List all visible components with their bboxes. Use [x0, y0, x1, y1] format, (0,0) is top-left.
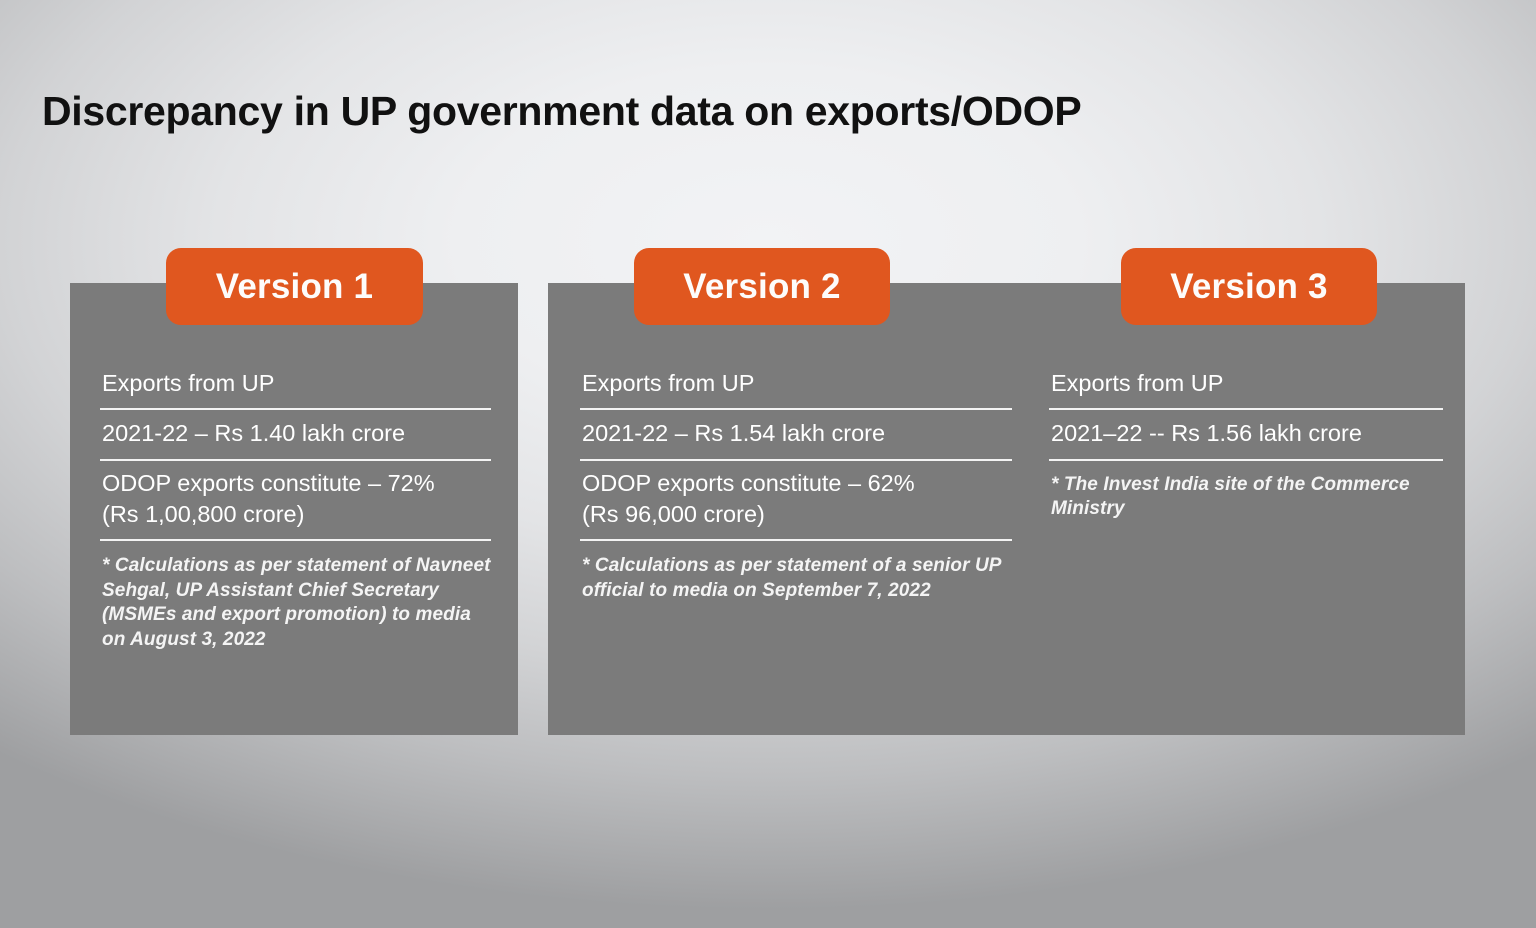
card-2-body: Exports from UP 2021-22 – Rs 1.54 lakh c…: [548, 360, 1070, 603]
card-2-odop-line-1: ODOP exports constitute – 62%: [582, 468, 1021, 499]
card-1-odop-line-1: ODOP exports constitute – 72%: [102, 468, 491, 499]
version-badge-2: Version 2: [634, 248, 890, 325]
version-badge-1: Version 1: [166, 248, 423, 325]
card-3-note: * The Invest India site of the Commerce …: [1049, 461, 1443, 522]
version-card-3: Exports from UP 2021–22 -- Rs 1.56 lakh …: [1012, 283, 1465, 735]
card-3-body: Exports from UP 2021–22 -- Rs 1.56 lakh …: [1012, 360, 1465, 522]
card-2-odop-row: ODOP exports constitute – 62% (Rs 96,000…: [580, 461, 1021, 540]
card-1-body: Exports from UP 2021-22 – Rs 1.40 lakh c…: [70, 360, 518, 653]
card-1-odop-line-2: (Rs 1,00,800 crore): [102, 499, 491, 530]
slide-canvas: Discrepancy in UP government data on exp…: [0, 0, 1536, 928]
card-1-odop-row: ODOP exports constitute – 72% (Rs 1,00,8…: [100, 461, 491, 540]
card-2-note: * Calculations as per statement of a sen…: [580, 541, 1021, 603]
card-2-header: Exports from UP: [580, 360, 1021, 408]
card-1-year-row: 2021-22 – Rs 1.40 lakh crore: [100, 410, 491, 458]
card-2-odop-line-2: (Rs 96,000 crore): [582, 499, 1021, 530]
version-card-2: Exports from UP 2021-22 – Rs 1.54 lakh c…: [548, 283, 1070, 735]
version-card-1: Exports from UP 2021-22 – Rs 1.40 lakh c…: [70, 283, 518, 735]
card-1-note: * Calculations as per statement of Navne…: [100, 541, 491, 653]
card-3-header: Exports from UP: [1049, 360, 1443, 408]
card-3-year-row: 2021–22 -- Rs 1.56 lakh crore: [1049, 410, 1443, 458]
card-1-header: Exports from UP: [100, 360, 491, 408]
version-badge-3: Version 3: [1121, 248, 1377, 325]
page-title: Discrepancy in UP government data on exp…: [42, 88, 1081, 135]
card-2-year-row: 2021-22 – Rs 1.54 lakh crore: [580, 410, 1021, 458]
